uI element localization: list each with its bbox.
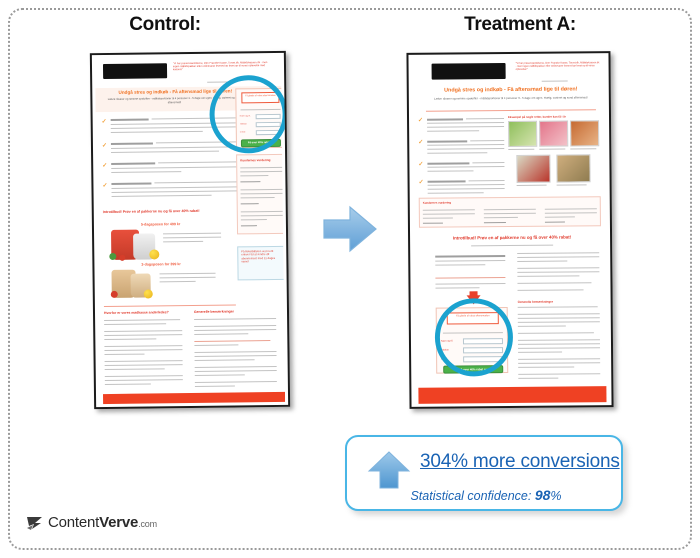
dish-photo [516,155,550,183]
brand-name-light: Content [48,514,99,531]
brand-tld: .com [138,519,157,529]
intro-offer-line: Introtilbud! Prøv en af pakkerne nu og f… [103,208,243,214]
check-icon: ✓ [102,163,107,169]
dish-photo [539,120,568,146]
check-icon: ✓ [418,140,423,146]
brand-name-bold: Verve [99,514,138,531]
check-icon: ✓ [102,119,107,125]
faq-left-body [95,56,281,58]
dish-photo [556,154,590,182]
vegetable-icon [119,255,125,261]
testimonials-box: Kundernes vurdering [236,154,285,235]
screenshot-treatment-a[interactable]: "Vi har prøvet Aarstiderne, Den Franske … [406,51,613,409]
form-highlight-circle-treatment [435,298,514,377]
ab-test-comparison-slide: Control: Treatment A: "Vi har prøvet Aar… [0,0,700,558]
page-headline: Undgå stres og indkøb - Få aftensmad lig… [418,86,604,94]
faq-right-body-2 [411,56,605,58]
result-callout: 304% more conversions Statistical confid… [345,435,623,511]
price-offer-title: 5-dagsposen for 499 kr [141,221,231,226]
faq-right-body [411,56,605,58]
vegetable-icon [111,291,118,298]
column-title-treatment: Treatment A: [355,14,685,36]
brand-name: ContentVerve.com [48,514,157,531]
tagline-attribution [542,80,568,81]
lemon-icon [144,289,153,298]
check-icon: ✓ [419,180,424,186]
check-icon: ✓ [418,118,423,124]
brand-logo[interactable]: ContentVerve.com [26,514,157,531]
testimonials-box: Kundernes vurdering [419,196,601,228]
dish-photo [570,120,599,146]
check-icon: ✓ [102,143,107,149]
confidence-label: Statistical confidence: [410,489,534,503]
faq-right-title: Generelle bemærkninger [518,299,600,304]
vegetable-icon [109,253,116,260]
check-icon: ✓ [418,162,423,168]
column-title-control: Control: [0,14,330,36]
testimonials-title: Kundernes vurdering [423,200,493,205]
page-footer-bar [418,386,606,404]
confidence-value: 98 [535,487,551,503]
intro-offer-line: Introtilbud! Prøv en af pakkerne nu og f… [437,234,587,240]
site-logo-bar [103,63,167,79]
price-offer-title [435,271,507,272]
down-arrow-shaft [470,291,478,297]
dish-photo [508,121,537,147]
confidence-line: Statistical confidence: 98% [347,487,625,503]
gallery-title: Eksempel på nogle retter, kunder kan få … [508,114,600,119]
confidence-suffix: % [550,489,561,503]
page-footer-bar [103,392,285,404]
flexibility-note: Få fleksibiliteten ved nu til enhver tid… [237,246,285,281]
result-headline: 304% more conversions [420,451,620,473]
faq-right-body [95,56,281,58]
contentverve-bird-icon [26,515,44,531]
faq-left-title: Hvorfor er vores madkasse anderledes? [104,310,184,315]
header-tagline: "Vi har prøvet Aarstiderne, Den Franske … [516,61,600,78]
price-offer-title: 3-dagsposen for 399 kr [141,261,231,266]
testimonials-title: Kundernes vurdering [240,158,284,163]
site-logo-bar [432,63,506,80]
screenshot-control[interactable]: "Vi har prøvet Aarstiderne, Den Franske … [90,51,290,409]
check-icon: ✓ [102,183,107,189]
up-arrow-icon [367,450,411,490]
transition-arrow [320,203,380,255]
page-subheadline: Lækre råvarer og nemme opskrifter - målt… [432,96,590,101]
faq-right-title: Generelle bemærkninger [194,309,280,314]
lemon-icon [149,249,159,259]
